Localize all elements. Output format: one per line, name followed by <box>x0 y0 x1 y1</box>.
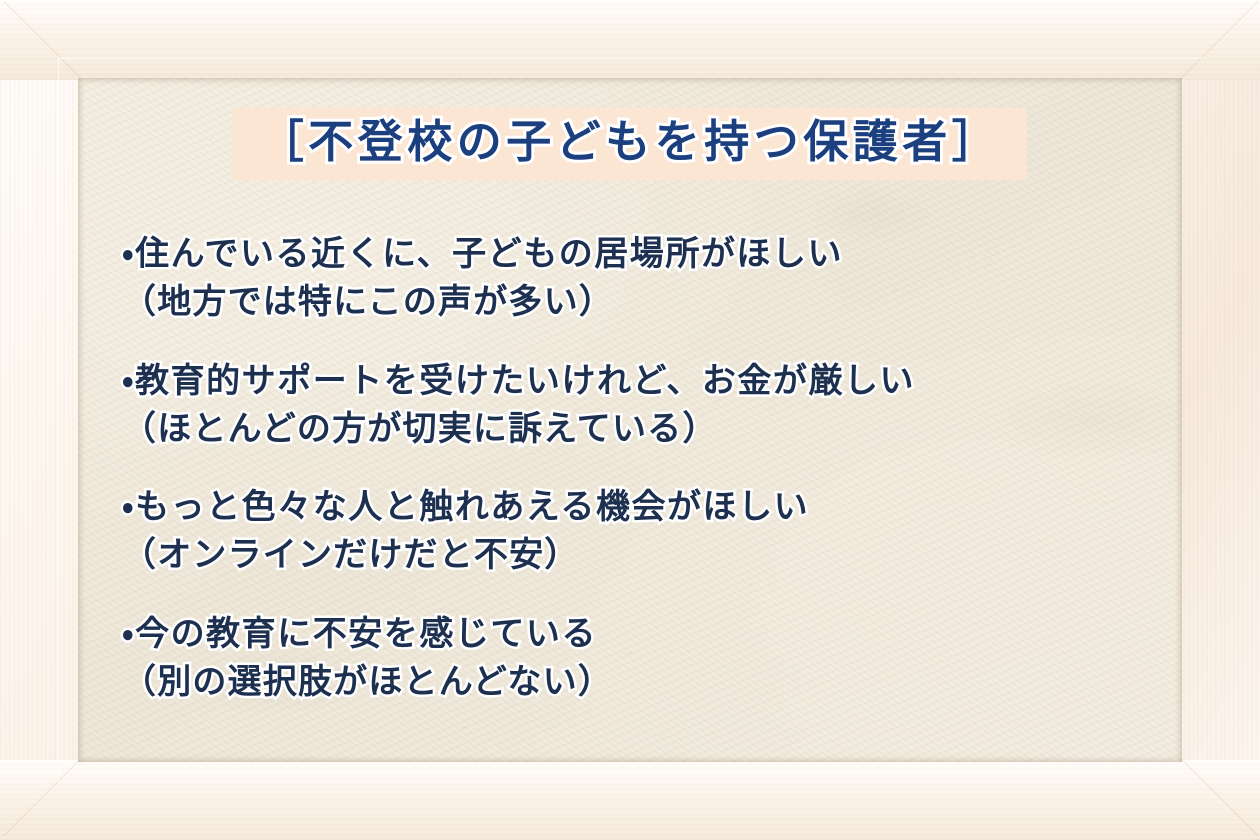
bullet-sub-text: （別の選択肢がほとんどない） <box>122 658 1152 706</box>
bullet-sub-text: （地方では特にこの声が多い） <box>122 278 1152 326</box>
bullet-list: ・住んでいる近くに、子どもの居場所がほしい （地方では特にこの声が多い） ・教育… <box>122 230 1152 706</box>
bullet-main-text: ・住んでいる近くに、子どもの居場所がほしい <box>122 230 1152 278</box>
list-item: ・教育的サポートを受けたいけれど、お金が厳しい （ほとんどの方が切実に訴えている… <box>122 357 1152 454</box>
bullet-main-text: ・今の教育に不安を感じている <box>122 610 1152 658</box>
paper-sheet: ［不登校の子どもを持つ保護者］ ・住んでいる近くに、子どもの居場所がほしい （地… <box>78 78 1182 762</box>
title-area: ［不登校の子どもを持つ保護者］ <box>78 108 1182 180</box>
list-item: ・住んでいる近くに、子どもの居場所がほしい （地方では特にこの声が多い） <box>122 230 1152 327</box>
list-item: ・もっと色々な人と触れあえる機会がほしい （オンラインだけだと不安） <box>122 483 1152 580</box>
list-item: ・今の教育に不安を感じている （別の選択肢がほとんどない） <box>122 610 1152 707</box>
bullet-main-text: ・教育的サポートを受けたいけれど、お金が厳しい <box>122 357 1152 405</box>
title-highlight-band: ［不登校の子どもを持つ保護者］ <box>233 108 1028 180</box>
bullet-main-text: ・もっと色々な人と触れあえる機会がほしい <box>122 483 1152 531</box>
bullet-sub-text: （オンラインだけだと不安） <box>122 531 1152 579</box>
page-title: ［不登校の子どもを持つ保護者］ <box>259 114 1002 170</box>
poster-canvas: ［不登校の子どもを持つ保護者］ ・住んでいる近くに、子どもの居場所がほしい （地… <box>0 0 1260 840</box>
bullet-sub-text: （ほとんどの方が切実に訴えている） <box>122 405 1152 453</box>
